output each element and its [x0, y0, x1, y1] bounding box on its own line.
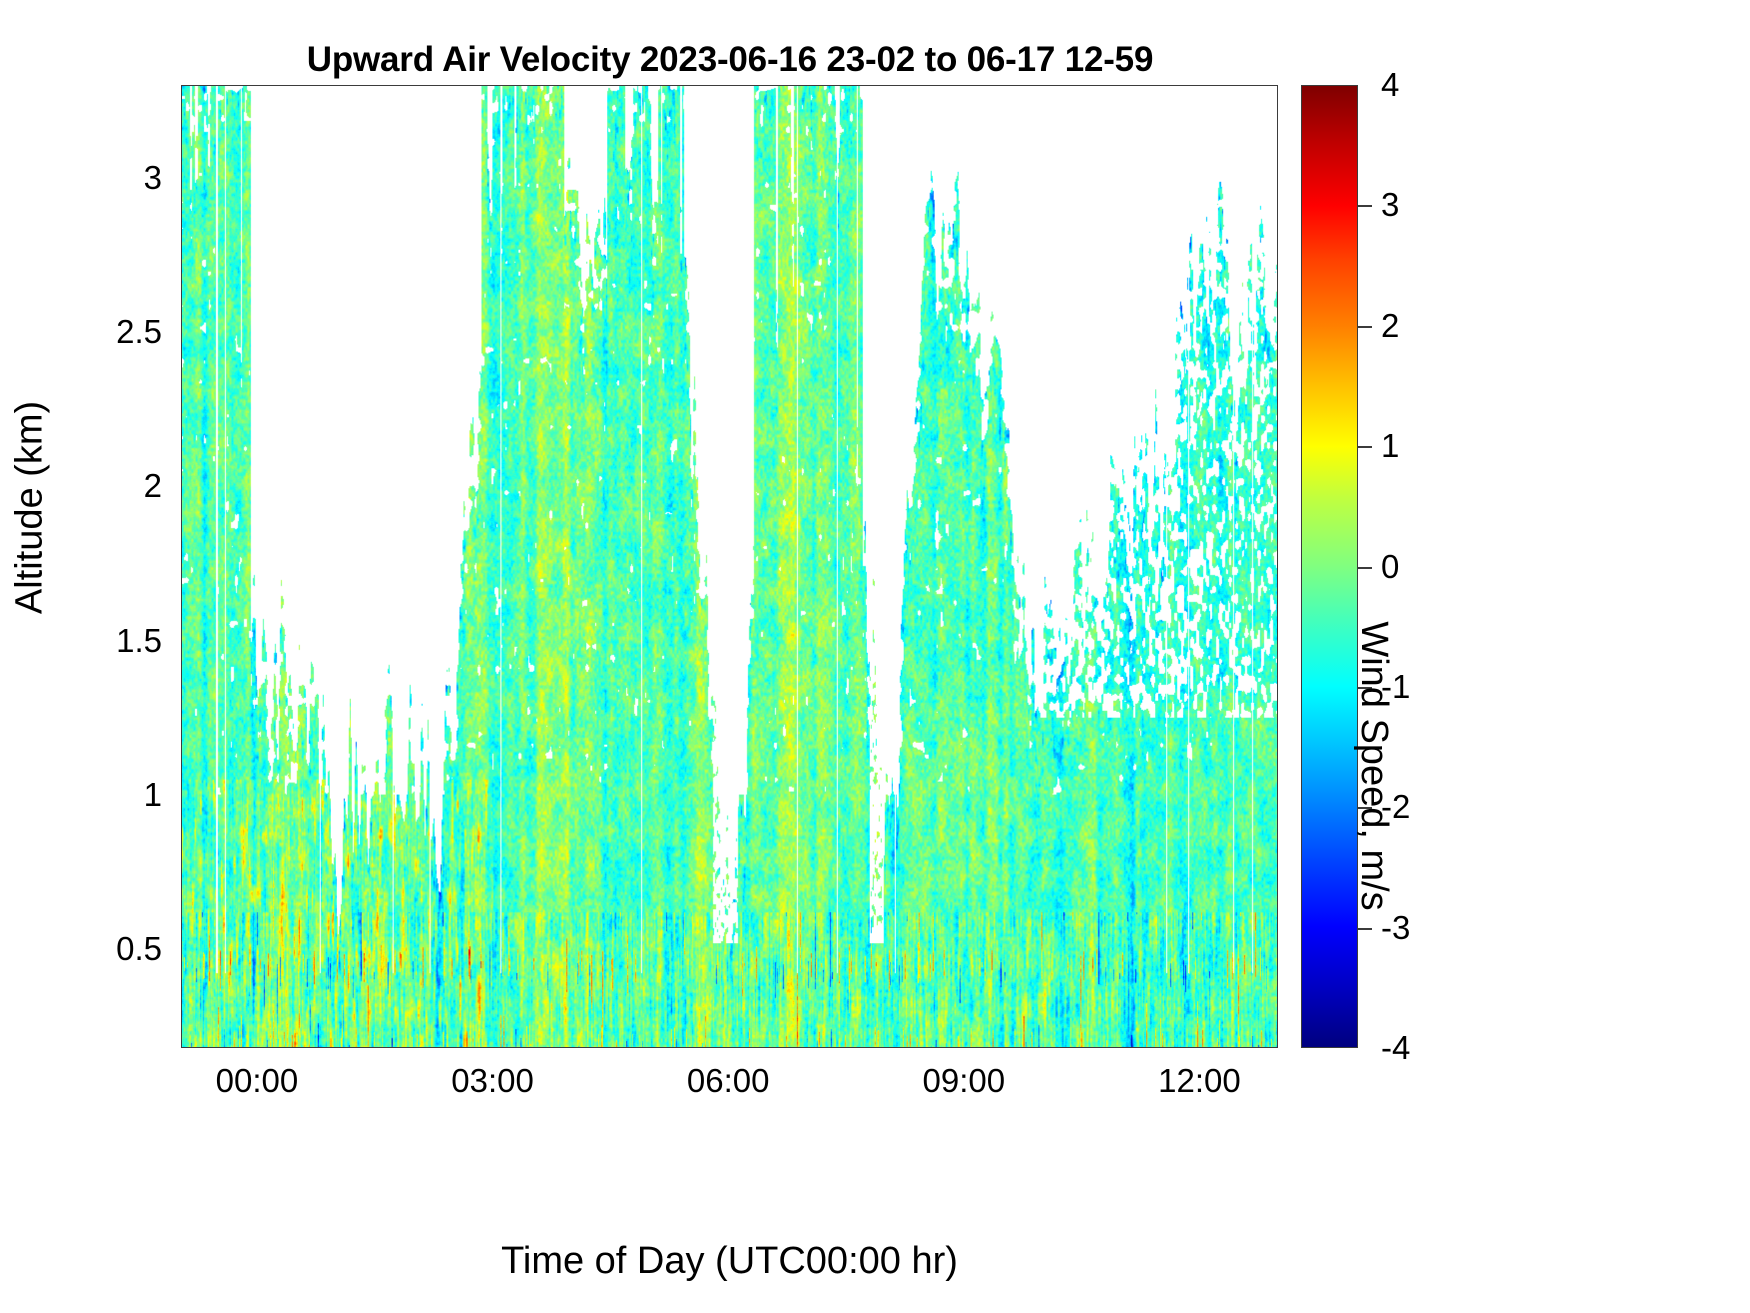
y-tick-label: 0.5	[116, 930, 162, 968]
y-tick	[181, 487, 182, 489]
y-tick-right	[1277, 796, 1278, 798]
y-tick-label: 1.5	[116, 622, 162, 660]
y-tick-label: 3	[144, 159, 162, 197]
x-tick-label: 06:00	[687, 1062, 770, 1100]
page-title: Upward Air Velocity 2023-06-16 23-02 to …	[180, 40, 1280, 80]
y-tick	[181, 642, 182, 644]
y-tick	[181, 796, 182, 798]
heatmap-image	[182, 86, 1277, 1047]
colorbar-tick	[1358, 326, 1372, 328]
colorbar-tick-label: 4	[1381, 66, 1399, 104]
colorbar-title: Wind Speed, m/s	[1352, 386, 1395, 1146]
x-tick	[965, 1047, 967, 1048]
x-tick-label: 03:00	[451, 1062, 534, 1100]
x-tick-top	[729, 85, 731, 86]
x-tick-label: 12:00	[1158, 1062, 1241, 1100]
colorbar-tick-label: 2	[1381, 307, 1399, 345]
x-axis-title: Time of Day (UTC00:00 hr)	[181, 1240, 1278, 1283]
x-tick-label: 00:00	[216, 1062, 299, 1100]
y-tick-right	[1277, 487, 1278, 489]
x-tick-top	[494, 85, 496, 86]
y-tick-right	[1277, 333, 1278, 335]
y-tick-label: 1	[144, 776, 162, 814]
x-tick	[258, 1047, 260, 1048]
colorbar-tick-label: 3	[1381, 186, 1399, 224]
y-tick	[181, 333, 182, 335]
y-tick-right	[1277, 642, 1278, 644]
y-tick-right	[1277, 179, 1278, 181]
y-tick-right	[1277, 950, 1278, 952]
y-tick-label: 2.5	[116, 313, 162, 351]
x-tick-labels: 00:0003:0006:0009:0012:00	[181, 1062, 1278, 1108]
x-tick-label: 09:00	[923, 1062, 1006, 1100]
y-axis-title: Altitude (km)	[9, 273, 52, 743]
x-tick-top	[258, 85, 260, 86]
x-tick	[729, 1047, 731, 1048]
x-tick	[494, 1047, 496, 1048]
figure-canvas: Upward Air Velocity 2023-06-16 23-02 to …	[0, 0, 1750, 1313]
y-tick	[181, 179, 182, 181]
colorbar-tick	[1358, 205, 1372, 207]
y-tick	[181, 950, 182, 952]
x-tick-top	[1200, 85, 1202, 86]
x-tick-top	[965, 85, 967, 86]
plot-axes	[181, 85, 1278, 1048]
y-tick-label: 2	[144, 467, 162, 505]
x-tick	[1200, 1047, 1202, 1048]
